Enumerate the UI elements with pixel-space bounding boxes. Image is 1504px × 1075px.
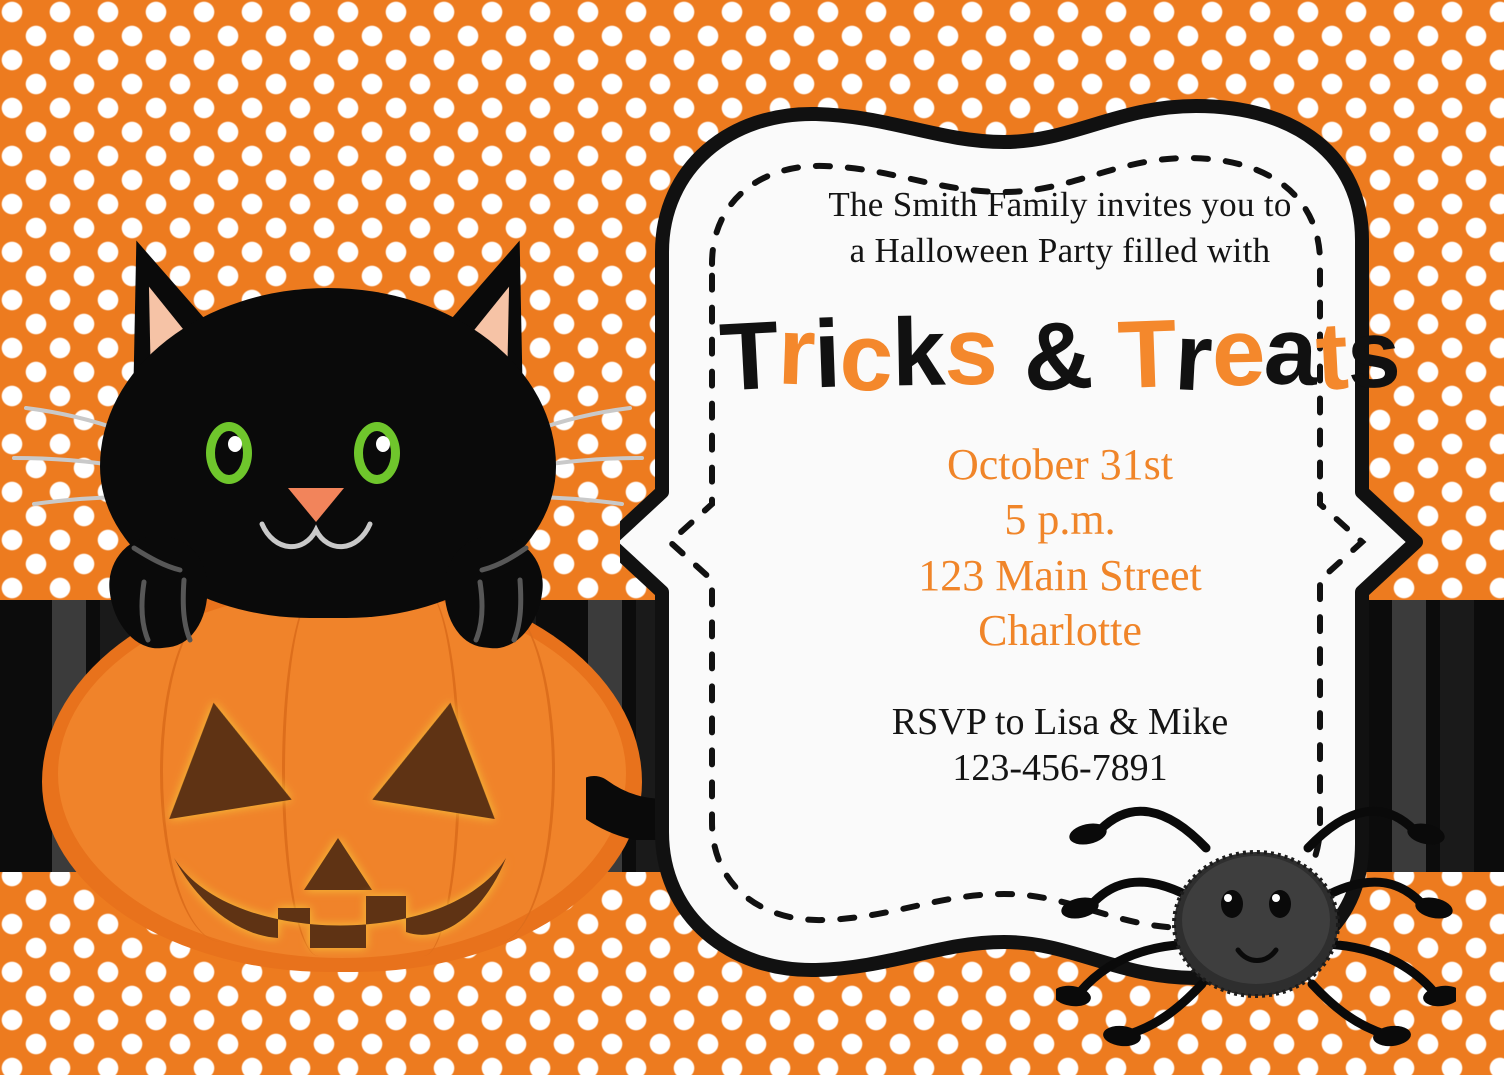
cat-paw-toe-lines	[88, 236, 568, 676]
detail-time: 5 p.m.	[700, 492, 1420, 547]
title-letter: &	[1021, 307, 1094, 406]
title-letter: T	[1116, 306, 1177, 404]
card-text-block: The Smith Family invites you to a Hallow…	[700, 182, 1420, 791]
black-cat	[88, 236, 568, 656]
party-details: October 31st 5 p.m. 123 Main Street Char…	[700, 437, 1420, 659]
pumpkin-eye-right	[372, 693, 511, 819]
title-letter: s	[1346, 306, 1402, 404]
intro-line-2: a Halloween Party filled with	[700, 228, 1420, 274]
spider-body-inner	[1182, 856, 1330, 984]
party-title: Tricks&Treats	[700, 307, 1420, 403]
pumpkin-mouth	[170, 852, 510, 972]
cartoon-spider	[1056, 786, 1456, 1075]
invitation-canvas: The Smith Family invites you to a Hallow…	[0, 0, 1504, 1075]
rsvp-names: RSVP to Lisa & Mike	[700, 699, 1420, 745]
title-letter: t	[1314, 308, 1350, 405]
title-letter: r	[776, 303, 816, 400]
title-letter: r	[1173, 309, 1214, 407]
pumpkin-eye-left	[152, 693, 291, 819]
title-letter: s	[943, 303, 999, 401]
rsvp-phone: 123-456-7891	[700, 745, 1420, 791]
title-letter: a	[1262, 303, 1318, 401]
rsvp-block: RSVP to Lisa & Mike 123-456-7891	[700, 699, 1420, 792]
detail-date: October 31st	[700, 437, 1420, 492]
detail-city: Charlotte	[700, 603, 1420, 658]
title-letter: e	[1211, 305, 1265, 402]
title-letter: c	[837, 309, 894, 408]
title-letter: k	[892, 305, 946, 402]
detail-address: 123 Main Street	[700, 548, 1420, 603]
intro-line-1: The Smith Family invites you to	[700, 182, 1420, 228]
title-letter: T	[718, 308, 781, 407]
